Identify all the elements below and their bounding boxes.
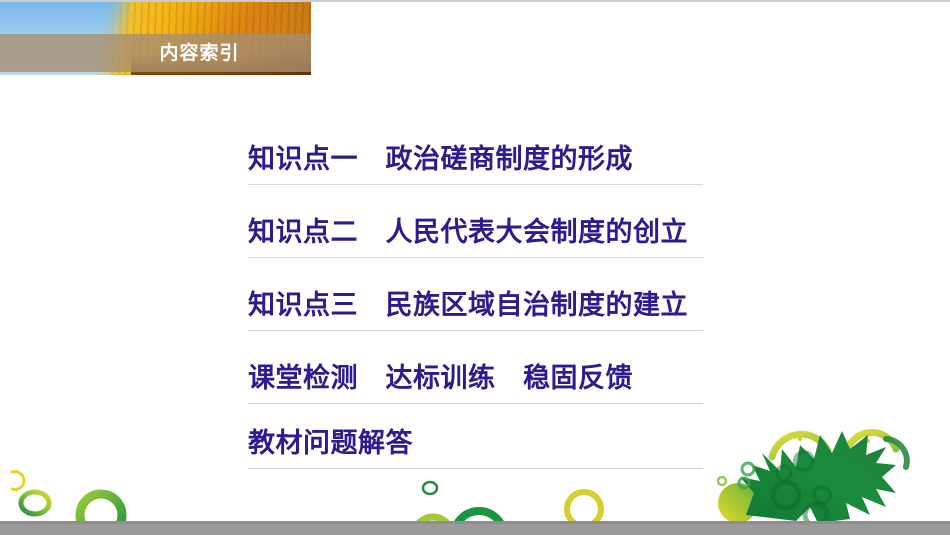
- index-item-5[interactable]: 教材问题解答: [248, 404, 703, 469]
- index-item-label: 知识点一 政治磋商制度的形成: [248, 137, 633, 176]
- index-item-2[interactable]: 知识点二 人民代表大会制度的创立: [248, 185, 703, 258]
- index-item-4[interactable]: 课堂检测 达标训练 稳固反馈: [248, 331, 703, 404]
- maple-leaf-icon: [700, 419, 950, 529]
- index-item-label: 课堂检测 达标训练 稳固反馈: [248, 356, 633, 395]
- maple-leaf-decoration: [700, 419, 950, 519]
- content-index-list: 知识点一 政治磋商制度的形成 知识点二 人民代表大会制度的创立 知识点三 民族区…: [248, 112, 703, 469]
- ring-decoration-icon: [14, 487, 56, 519]
- index-item-label: 知识点二 人民代表大会制度的创立: [248, 210, 688, 249]
- index-item-3[interactable]: 知识点三 民族区域自治制度的建立: [248, 258, 703, 331]
- presentation-slide: 内容索引 知识点一 政治磋商制度的形成 知识点二 人民代表大会制度的创立 知识点…: [0, 0, 950, 535]
- index-item-1[interactable]: 知识点一 政治磋商制度的形成: [248, 112, 703, 185]
- bottom-bar: [0, 521, 950, 535]
- header-banner: 内容索引: [0, 2, 311, 75]
- bottom-bar-highlight: [0, 521, 950, 524]
- index-item-label: 教材问题解答: [248, 421, 413, 460]
- slide-title: 内容索引: [0, 34, 311, 72]
- ring-decoration-icon: [420, 479, 440, 497]
- index-item-label: 知识点三 民族区域自治制度的建立: [248, 283, 688, 322]
